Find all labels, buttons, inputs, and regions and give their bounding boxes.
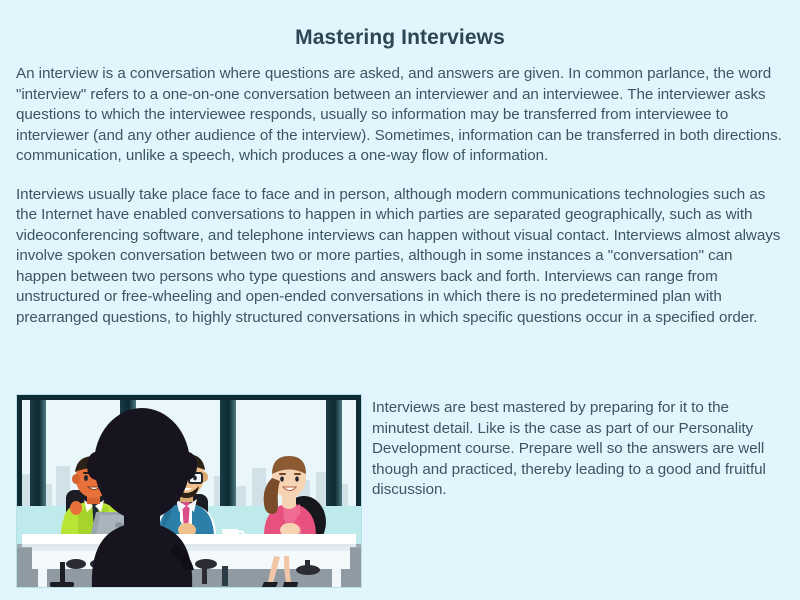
lower-section: Interviews are best mastered by preparin… — [0, 392, 800, 592]
body-copy: An interview is a conversation where que… — [16, 64, 786, 328]
interview-panel-illustration — [16, 394, 362, 588]
paragraph-2: Interviews usually take place face to fa… — [16, 185, 786, 329]
slide-root: Mastering Interviews An interview is a c… — [0, 0, 800, 600]
page-title: Mastering Interviews — [0, 26, 800, 50]
illustration-canvas — [16, 394, 362, 588]
side-paragraph: Interviews are best mastered by preparin… — [372, 398, 784, 501]
paragraph-1: An interview is a conversation where que… — [16, 64, 786, 167]
